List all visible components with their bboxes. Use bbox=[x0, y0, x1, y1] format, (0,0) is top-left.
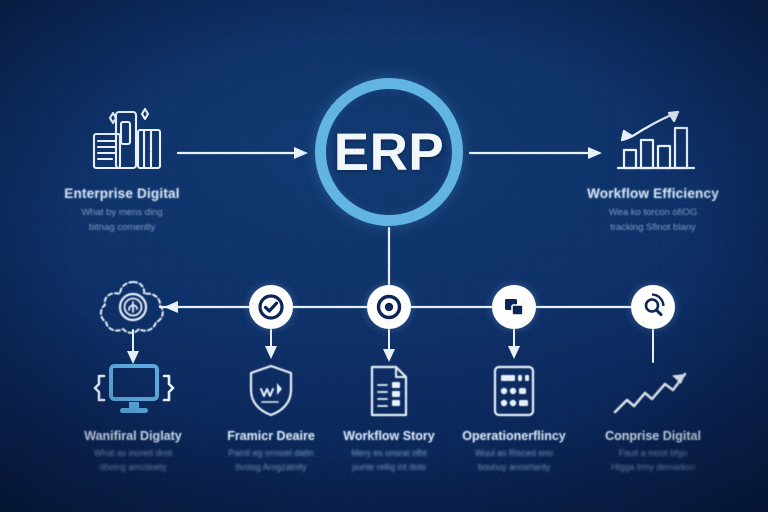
column-5-title: Conprise Digital bbox=[578, 429, 728, 443]
infographic-canvas: ERP Enterprise Digital What by mens ding bbox=[0, 0, 768, 512]
column-4-title: Operationerflincy bbox=[439, 429, 589, 443]
column-4[interactable]: Operationerflincy Wuul as Risced eno bou… bbox=[439, 358, 589, 474]
column-5[interactable]: Conprise Digital Fauit a moot bfgo Htgga… bbox=[578, 358, 728, 474]
check-circle-icon bbox=[258, 294, 284, 320]
enterprise-servers-icon bbox=[22, 100, 222, 176]
bar-chart-growth-icon bbox=[553, 100, 753, 176]
column-1[interactable]: Wanifiral Diglaty What as inored dnst db… bbox=[58, 358, 208, 474]
right-group[interactable]: Workflow Efficiency Wea ko torcon ofiOG … bbox=[553, 100, 753, 235]
right-group-title: Workflow Efficiency bbox=[553, 186, 753, 201]
column-1-subtitle-1: What as inored dnst bbox=[58, 447, 208, 460]
right-group-subtitle-2: tracking Sfinot blany bbox=[553, 221, 753, 235]
left-group[interactable]: Enterprise Digital What by mens ding bit… bbox=[22, 100, 222, 235]
left-group-subtitle-1: What by mens ding bbox=[22, 206, 222, 220]
target-dot-icon bbox=[376, 294, 402, 320]
column-5-subtitle-2: Htgga trmy demadion bbox=[578, 461, 728, 474]
column-5-subtitle-1: Fauit a moot bfgo bbox=[578, 447, 728, 460]
arrow-down-col-2 bbox=[265, 330, 277, 359]
cloud-fingerprint-icon bbox=[97, 277, 169, 337]
node-check-circle[interactable] bbox=[249, 285, 293, 329]
node-target-dot[interactable] bbox=[367, 285, 411, 329]
trend-up-arrow-icon bbox=[578, 358, 728, 420]
erp-label: ERP bbox=[315, 78, 463, 226]
calculator-form-icon bbox=[439, 358, 589, 420]
arrow-down-col-4 bbox=[508, 330, 520, 359]
column-4-subtitle-1: Wuul as Risced eno bbox=[439, 447, 589, 460]
right-group-subtitle-1: Wea ko torcon ofiOG bbox=[553, 206, 753, 220]
column-4-subtitle-2: bounuy anosrtanty bbox=[439, 461, 589, 474]
left-group-title: Enterprise Digital bbox=[22, 186, 222, 201]
node-search[interactable] bbox=[631, 285, 675, 329]
monitor-code-icon bbox=[58, 358, 208, 420]
layers-stack-icon bbox=[501, 294, 527, 320]
search-magnifier-icon bbox=[639, 293, 667, 321]
column-1-subtitle-2: dboing arnctioety bbox=[58, 461, 208, 474]
node-cloud-fingerprint[interactable] bbox=[97, 277, 169, 337]
column-1-title: Wanifiral Diglaty bbox=[58, 429, 208, 443]
erp-center-node[interactable]: ERP bbox=[315, 78, 463, 226]
left-group-subtitle-2: bitnag comently bbox=[22, 221, 222, 235]
node-layers-stack[interactable] bbox=[492, 285, 536, 329]
